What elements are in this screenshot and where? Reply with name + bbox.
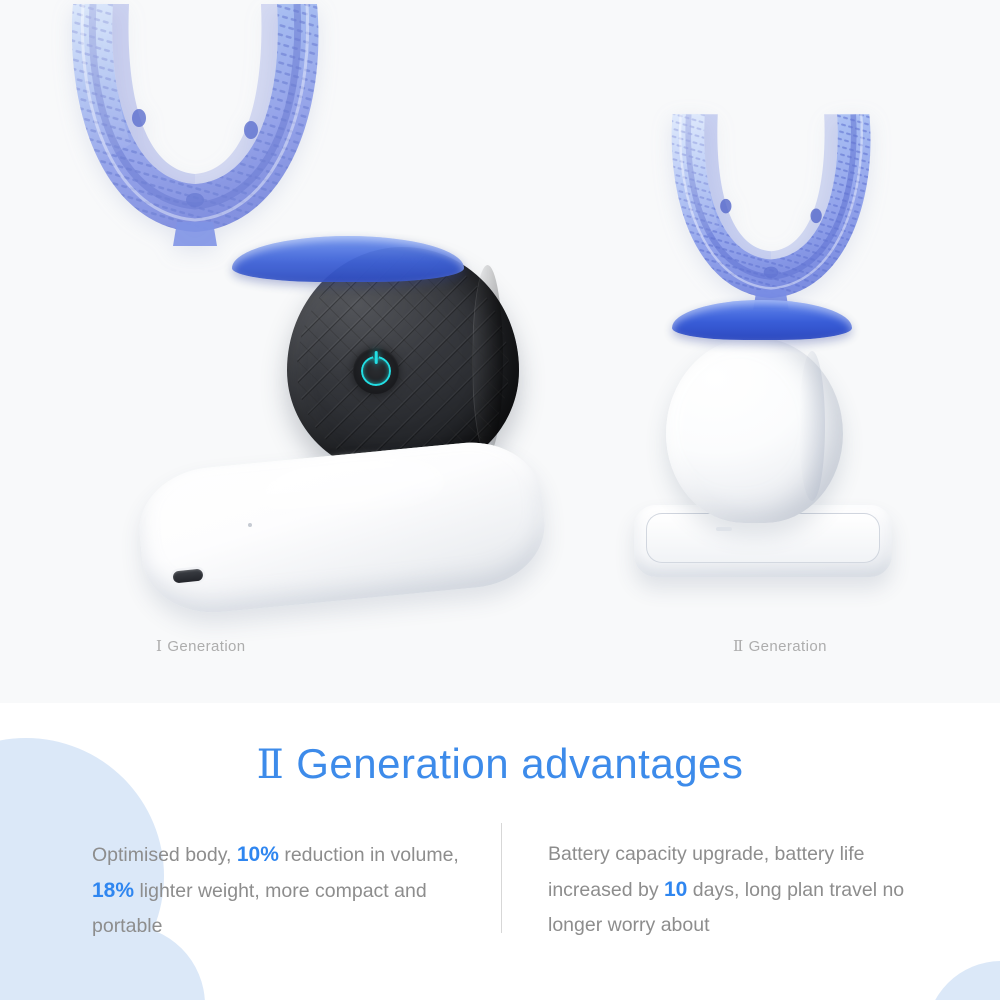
caption-numeral-gen2: Ⅱ (733, 637, 744, 655)
advantages-title-numeral: Ⅱ (257, 742, 285, 788)
power-button-gen1[interactable] (353, 348, 399, 394)
body-text: Optimised body, (92, 844, 237, 866)
caption-gen1: ⅠGeneration (156, 637, 246, 655)
product-feature-page: ⅠGeneration (0, 0, 1000, 1000)
caption-gen2: ⅡGeneration (733, 637, 827, 655)
product-image-gen1 (55, 0, 525, 660)
caption-label-gen2: Generation (749, 638, 827, 655)
advantages-columns: Optimised body, 10% reduction in volume,… (0, 837, 1000, 957)
caption-label-gen1: Generation (167, 638, 245, 655)
brush-head-gen2-icon (650, 100, 900, 330)
charging-base-gen1 (134, 436, 550, 619)
product-comparison-section: ⅠGeneration (0, 0, 1000, 703)
column-divider (501, 823, 502, 933)
caption-numeral-gen1: Ⅰ (156, 637, 162, 655)
device-body-gen2 (666, 337, 843, 523)
power-icon-stem (375, 351, 378, 364)
highlight-value: 10 (664, 878, 687, 901)
highlight-value: 18% (92, 879, 134, 902)
body-text: reduction in volume, (279, 844, 459, 866)
advantage-text-battery: Battery capacity upgrade, battery life i… (548, 837, 940, 943)
advantage-text-volume: Optimised body, 10% reduction in volume,… (92, 837, 464, 944)
advantages-title-text: Generation advantages (296, 740, 743, 787)
highlight-value: 10% (237, 843, 279, 866)
advantages-title: ⅡGeneration advantages (0, 740, 1000, 788)
brush-head-gen1-icon (45, 0, 355, 264)
base-indicator-led-gen2 (716, 527, 732, 531)
decorative-circle-right (926, 961, 1000, 1000)
base-indicator-led-gen1 (248, 523, 252, 527)
body-text: lighter weight, more compact and portabl… (92, 880, 427, 937)
advantages-section: ⅡGeneration advantages Optimised body, 1… (0, 703, 1000, 1000)
